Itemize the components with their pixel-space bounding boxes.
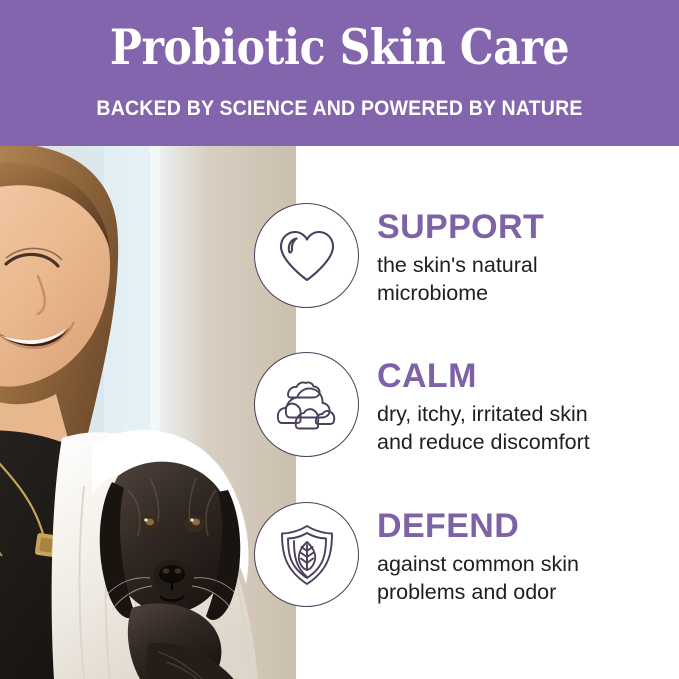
page-subtitle: BACKED BY SCIENCE AND POWERED BY NATURE xyxy=(24,95,655,123)
feature-support-body: the skin's natural microbiome xyxy=(377,251,677,307)
feature-defend-body: against common skin problems and odor xyxy=(377,550,677,606)
promotional-poster: Probiotic Skin Care BACKED BY SCIENCE AN… xyxy=(0,0,679,679)
shield-leaf-icon-badge xyxy=(254,502,359,607)
hero-photo xyxy=(0,146,296,679)
heart-icon-badge xyxy=(254,203,359,308)
feature-defend-text: DEFEND against common skin problems and … xyxy=(377,506,677,606)
feature-calm-heading: CALM xyxy=(377,356,677,396)
header-band: Probiotic Skin Care BACKED BY SCIENCE AN… xyxy=(0,0,679,146)
feature-calm-body: dry, itchy, irritated skin and reduce di… xyxy=(377,400,677,456)
hero-photo-illustration xyxy=(0,146,296,679)
feature-support-text: SUPPORT the skin's natural microbiome xyxy=(377,207,677,307)
feature-support-heading: SUPPORT xyxy=(377,207,677,247)
clouds-icon-badge xyxy=(254,352,359,457)
page-title: Probiotic Skin Care xyxy=(44,17,635,77)
feature-calm-text: CALM dry, itchy, irritated skin and redu… xyxy=(377,356,677,456)
feature-defend-heading: DEFEND xyxy=(377,506,677,546)
